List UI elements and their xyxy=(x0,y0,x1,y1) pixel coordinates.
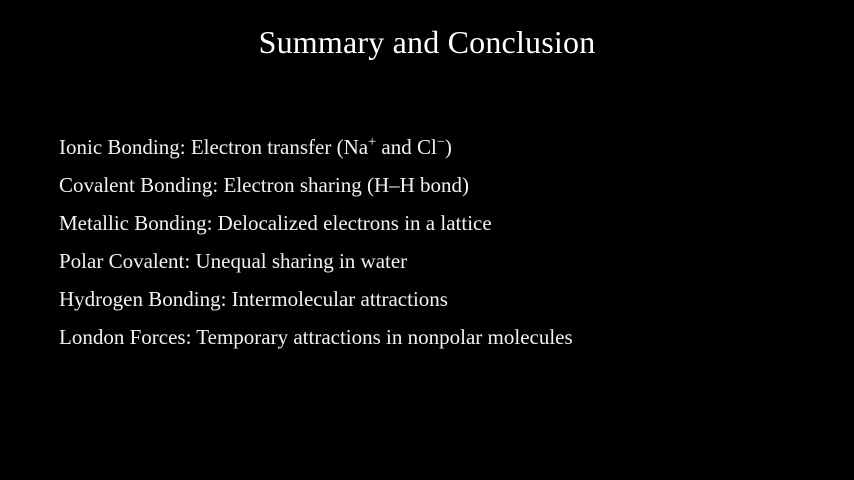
presentation-slide: Summary and Conclusion Ionic Bonding: El… xyxy=(0,0,854,480)
list-item: Polar Covalent: Unequal sharing in water xyxy=(59,242,819,280)
list-item-text-segment: Ionic Bonding: Electron transfer (Na xyxy=(59,135,368,159)
list-item: Metallic Bonding: Delocalized electrons … xyxy=(59,204,819,242)
page-title: Summary and Conclusion xyxy=(0,22,854,62)
summary-bullet-list: Ionic Bonding: Electron transfer (Na+ an… xyxy=(59,128,819,356)
superscript-charge-minus: − xyxy=(437,134,445,150)
superscript-charge-plus: + xyxy=(368,134,376,150)
list-item: London Forces: Temporary attractions in … xyxy=(59,318,819,356)
list-item: Ionic Bonding: Electron transfer (Na+ an… xyxy=(59,128,819,166)
list-item-text-segment: and Cl xyxy=(376,135,437,159)
list-item: Covalent Bonding: Electron sharing (H–H … xyxy=(59,166,819,204)
list-item-text-segment: ) xyxy=(445,135,452,159)
list-item: Hydrogen Bonding: Intermolecular attract… xyxy=(59,280,819,318)
